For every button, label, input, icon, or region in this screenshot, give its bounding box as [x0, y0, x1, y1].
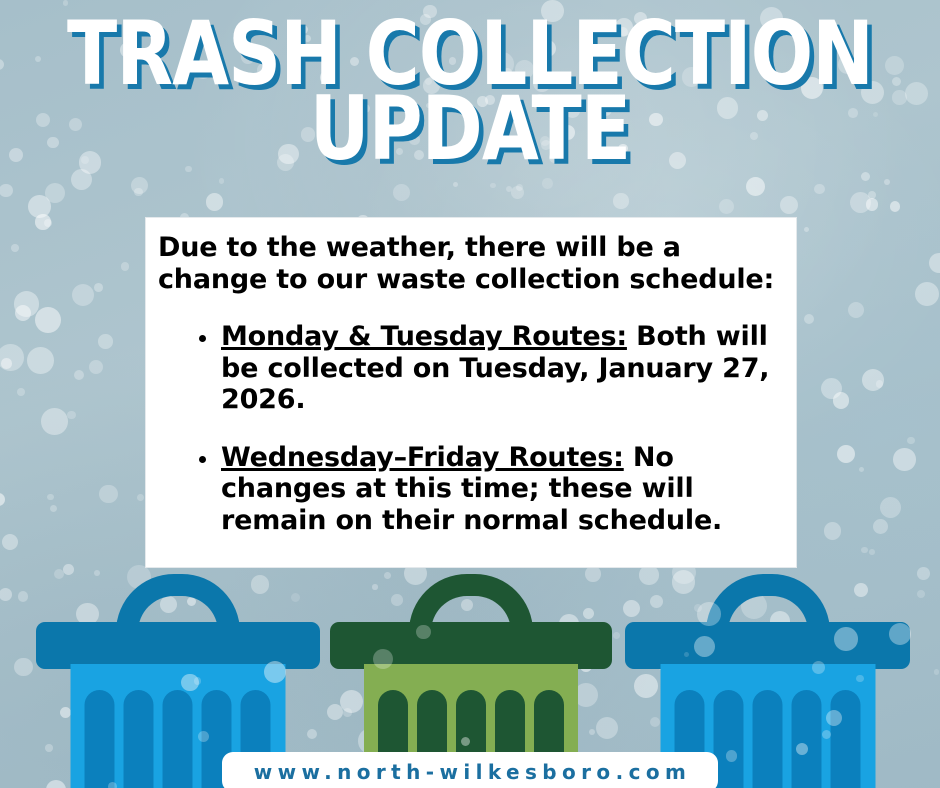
- bin-rib: [124, 690, 154, 788]
- bin-lid: [330, 622, 612, 669]
- bin-lid: [36, 622, 320, 669]
- bin-rib: [830, 690, 860, 788]
- poster-canvas: TRASH COLLECTION UPDATE Due to the weath…: [0, 0, 940, 788]
- poster-title: TRASH COLLECTION UPDATE: [0, 14, 940, 170]
- title-line-2: UPDATE: [33, 89, 907, 170]
- message-card: Due to the weather, there will be a chan…: [145, 217, 797, 568]
- schedule-bullet-item: Wednesday–Friday Routes: No changes at t…: [158, 442, 780, 537]
- schedule-bullet-list: Monday & Tuesday Routes: Both will be co…: [158, 321, 780, 536]
- bin-rib: [163, 690, 193, 788]
- bin-lid: [625, 622, 910, 669]
- bullet-lead-label: Wednesday–Friday Routes:: [221, 442, 624, 473]
- card-intro-text: Due to the weather, there will be a chan…: [158, 232, 780, 295]
- website-url-pill[interactable]: www.north-wilkesboro.com: [222, 752, 718, 788]
- website-url-text: www.north-wilkesboro.com: [249, 760, 691, 784]
- bin-rib: [791, 690, 821, 788]
- bin-rib: [752, 690, 782, 788]
- bullet-lead-label: Monday & Tuesday Routes:: [221, 321, 627, 352]
- schedule-bullet-item: Monday & Tuesday Routes: Both will be co…: [158, 321, 780, 416]
- bin-rib: [85, 690, 115, 788]
